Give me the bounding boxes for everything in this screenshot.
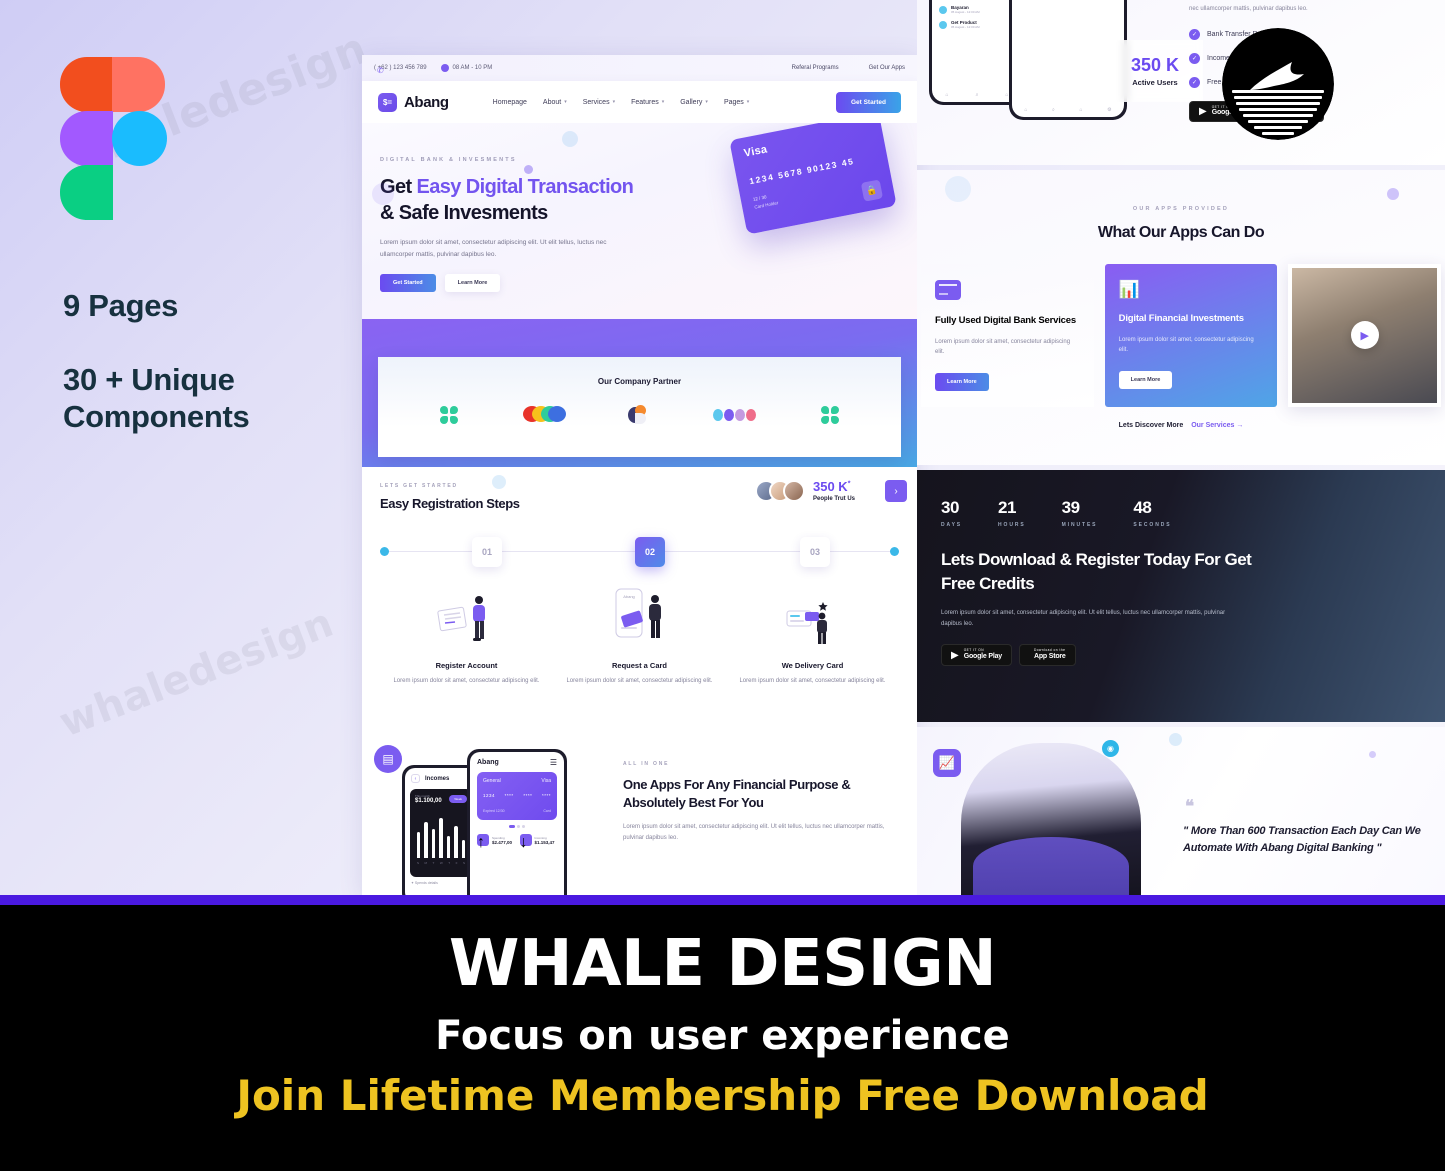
promo-components-count: 30 + Unique Components <box>63 362 313 435</box>
quote-icon: ❝ <box>1185 797 1194 817</box>
phone-brand: Abang <box>477 759 499 766</box>
countdown-seconds: 48SECONDS <box>1133 498 1171 528</box>
active-users-label: Active Users <box>1132 78 1177 87</box>
countdown-timer: 30DAYS 21HOURS 39MINUTES 48SECONDS <box>941 498 1445 528</box>
allinone-kicker: ALL IN ONE <box>623 761 901 767</box>
site-topbar: ✆ ( +62 ) 123 456 789 08 AM - 10 PM Refe… <box>362 55 917 81</box>
bar-chart-icon: 📊 <box>1119 280 1264 300</box>
app-store-badge[interactable]: Download on theApp Store <box>1019 644 1076 665</box>
trust-number: 350 K* <box>813 479 855 494</box>
step-desc: Lorem ipsum dolor sit amet, consectetur … <box>392 676 541 686</box>
step-card-list: Register Account Lorem ipsum dolor sit a… <box>380 585 899 686</box>
register-account-illustration <box>392 585 541 647</box>
decor-blob <box>1387 188 1399 200</box>
partner-logo-list <box>378 406 901 424</box>
profile-icon[interactable]: ⌂ <box>1005 92 1008 98</box>
app-phone-mockups: ▤ ‹ Incomes This month $1.100,00 Week <box>362 735 617 895</box>
topbar-phone[interactable]: ✆ ( +62 ) 123 456 789 <box>374 65 427 71</box>
partner-title: Our Company Partner <box>378 377 901 386</box>
svg-text:Abang: Abang <box>623 594 635 599</box>
chart-badge-icon: 📈 <box>933 749 961 777</box>
hero-title: Get Easy Digital Transaction & Safe Inve… <box>380 175 640 226</box>
our-services-link[interactable]: Our Services → <box>1191 422 1243 429</box>
partner-card: Our Company Partner <box>378 357 901 457</box>
arrow-up-icon: ↑ <box>477 834 489 846</box>
bottom-banner: WHALE DESIGN Focus on user experience Jo… <box>0 895 1445 1171</box>
promo-video-thumbnail[interactable]: ▶ <box>1288 264 1441 407</box>
promo-pages-count: 9 Pages <box>63 288 178 325</box>
decor-blob <box>1369 751 1376 758</box>
card-title: Digital Financial Investments <box>1119 312 1264 326</box>
avatar-group <box>755 480 805 502</box>
allinone-title: One Apps For Any Financial Purpose & Abs… <box>623 776 901 811</box>
main-website-mockup: ✆ ( +62 ) 123 456 789 08 AM - 10 PM Refe… <box>362 55 917 895</box>
link-referal-programs[interactable]: Referal Programs <box>792 65 839 71</box>
decor-blob <box>562 131 578 147</box>
download-paragraph: Lorem ipsum dolor sit amet, consectetur … <box>941 608 1241 630</box>
step-card: Register Account Lorem ipsum dolor sit a… <box>380 585 553 686</box>
learn-more-button[interactable]: Learn More <box>1119 371 1173 389</box>
active-users-number: 350 K <box>1131 55 1179 76</box>
chevron-down-icon: ▾ <box>747 99 750 105</box>
phone-mockup-wallet: Abang ☰ GeneralVisa 1234************ Exp… <box>467 749 567 895</box>
step-card: We Delivery Card Lorem ipsum dolor sit a… <box>726 585 899 686</box>
whale-design-logo-icon <box>1222 28 1334 140</box>
link-get-our-apps[interactable]: Get Our Apps <box>869 65 905 71</box>
step-desc: Lorem ipsum dolor sit amet, consectetur … <box>738 676 887 686</box>
decor-blob <box>524 165 533 174</box>
nav-item-features[interactable]: Features▾ <box>631 99 664 106</box>
step-title: Request a Card <box>565 661 714 670</box>
phone-incomes-title: Incomes <box>425 776 449 782</box>
countdown-hours: 21HOURS <box>998 498 1026 528</box>
apps-kicker: OUR APPS PROVIDED <box>917 206 1445 212</box>
download-title: Lets Download & Register Today For Get F… <box>941 548 1261 596</box>
figma-logo-icon <box>60 57 165 220</box>
apps-capability-mockup: OUR APPS PROVIDED What Our Apps Can Do F… <box>917 170 1445 465</box>
timeline-dot-start <box>380 547 389 556</box>
all-in-one-copy: ALL IN ONE One Apps For Any Financial Pu… <box>617 735 917 895</box>
search-icon[interactable]: ⌕ <box>976 92 979 98</box>
step-number-2[interactable]: 02 <box>635 537 665 567</box>
step-title: We Delivery Card <box>738 661 887 670</box>
income-bar-chart <box>415 812 467 858</box>
visa-card-graphic: Visa 1234 5678 90123 45 12 / 30 Card Hol… <box>729 123 897 235</box>
check-icon: ✓ <box>1189 53 1200 64</box>
google-play-badge[interactable]: ▶ GET IT ONGoogle Play <box>941 644 1012 665</box>
nav-item-homepage[interactable]: Homepage <box>493 99 527 106</box>
stats-paragraph: nec ullamcorper mattis, pulvinar dapibus… <box>1189 4 1439 15</box>
nav-item-pages[interactable]: Pages▾ <box>724 99 749 106</box>
banner-accent-bar <box>0 895 1445 905</box>
all-in-one-section: ▤ ‹ Incomes This month $1.100,00 Week <box>362 735 917 895</box>
request-card-illustration: Abang <box>565 585 714 647</box>
main-menu: Homepage About▾ Services▾ Features▾ Gall… <box>493 99 750 106</box>
discover-more-text: Lets Discover More <box>1119 422 1184 429</box>
apps-card-bank-services: Fully Used Digital Bank Services Lorem i… <box>921 264 1094 407</box>
credit-card-icon <box>935 280 961 300</box>
site-navbar: $= Abang Homepage About▾ Services▾ Featu… <box>362 81 917 123</box>
partner-logo-clover-icon <box>440 406 458 424</box>
phone-icon: ✆ <box>374 64 382 72</box>
hero-learn-more-button[interactable]: Learn More <box>445 274 501 292</box>
delivery-card-illustration <box>738 585 887 647</box>
step-number-3[interactable]: 03 <box>800 537 830 567</box>
decor-blob <box>372 183 394 205</box>
search-icon[interactable]: ⌕ <box>1052 107 1055 113</box>
settings-icon[interactable]: ⚙ <box>1107 107 1111 113</box>
clock-icon <box>441 64 449 72</box>
registration-steps-section: LETS GET STARTED Easy Registration Steps… <box>362 467 917 735</box>
bell-icon[interactable]: ⌂ <box>1079 107 1082 113</box>
brand-mark-icon: $= <box>378 93 397 112</box>
check-icon: ✓ <box>1189 77 1200 88</box>
play-icon[interactable]: ▶ <box>1351 321 1379 349</box>
partner-logo-pie-icon <box>628 406 648 424</box>
lock-icon: 🔒 <box>861 179 883 201</box>
card-desc: Lorem ipsum dolor sit amet, consectetur … <box>935 337 1080 358</box>
card-desc: Lorem ipsum dolor sit amet, consectetur … <box>1119 335 1264 356</box>
timeline-dot-end <box>890 547 899 556</box>
home-icon[interactable]: ⌂ <box>946 92 949 98</box>
google-play-icon: ▶ <box>951 650 959 661</box>
decor-blob <box>1169 733 1182 746</box>
trust-label: People Trut Us <box>813 496 855 502</box>
testimonial-photo <box>961 743 1141 895</box>
arrow-down-icon: ↓ <box>520 834 532 846</box>
checklist-item: ✓Bank Transfer Real Time <box>1189 29 1439 40</box>
card-title: Fully Used Digital Bank Services <box>935 314 1080 328</box>
phone-tile-spending: ↑ Spending$2.477,00 <box>477 834 515 846</box>
card-badge-icon: ▤ <box>374 745 402 773</box>
download-register-mockup: 30DAYS 21HOURS 39MINUTES 48SECONDS Lets … <box>917 470 1445 722</box>
partner-logo-clover-icon <box>821 406 839 424</box>
next-arrow-button[interactable]: › <box>885 480 907 502</box>
get-started-button[interactable]: Get Started <box>836 92 901 113</box>
partner-logo-logo-icon <box>713 406 756 424</box>
visa-card-brand: Visa <box>743 123 871 159</box>
chevron-down-icon: ▾ <box>705 99 708 105</box>
nav-item-services[interactable]: Services▾ <box>583 99 615 106</box>
learn-more-button[interactable]: Learn More <box>935 373 989 391</box>
allinone-paragraph: Lorem ipsum dolor sit amet, consectetur … <box>623 822 901 844</box>
chevron-down-icon: ▾ <box>662 99 665 105</box>
step-number-1[interactable]: 01 <box>472 537 502 567</box>
nav-item-gallery[interactable]: Gallery▾ <box>680 99 708 106</box>
hero-get-started-button[interactable]: Get Started <box>380 274 436 292</box>
step-desc: Lorem ipsum dolor sit amet, consectetur … <box>565 676 714 686</box>
topbar-hours: 08 AM - 10 PM <box>441 64 493 72</box>
brand-logo[interactable]: $= Abang <box>378 93 449 112</box>
back-icon[interactable]: ‹ <box>411 774 420 783</box>
banner-cta: Join Lifetime Membership Free Download <box>0 1071 1445 1120</box>
decor-blob <box>492 475 506 489</box>
banner-subtitle: Focus on user experience <box>0 1013 1445 1059</box>
step-title: Register Account <box>392 661 541 670</box>
hero-paragraph: Lorem ipsum dolor sit amet, consectetur … <box>380 237 612 260</box>
whale-stripes <box>1228 90 1328 138</box>
nav-item-about[interactable]: About▾ <box>543 99 567 106</box>
google-play-icon: ▶ <box>1199 106 1207 117</box>
step-card: Abang Request a Card Lorem ipsum dolor s… <box>553 585 726 686</box>
home-icon[interactable]: ⌂ <box>1024 107 1027 113</box>
topbar-hours-text: 08 AM - 10 PM <box>453 65 493 71</box>
poster-canvas: whaledesign whaledesign whaledesign 9 Pa… <box>0 0 1445 1171</box>
chevron-down-icon: ▾ <box>564 99 567 105</box>
menu-icon[interactable]: ☰ <box>550 758 557 767</box>
partner-logo-petals-icon <box>523 406 563 424</box>
chevron-down-icon: ▾ <box>613 99 616 105</box>
steps-timeline: 01 02 03 <box>380 541 899 563</box>
apps-title: What Our Apps Can Do <box>917 224 1445 242</box>
shield-badge-icon: ◉ <box>1102 740 1119 757</box>
stats-mockup: SMTWTFS ✦ Spends details This Month Mesa… <box>917 0 1445 165</box>
check-icon: ✓ <box>1189 29 1200 40</box>
testimonial-quote: " More Than 600 Transaction Each Day Can… <box>1183 823 1428 856</box>
apps-card-financial-investments: 📊 Digital Financial Investments Lorem ip… <box>1105 264 1278 407</box>
countdown-minutes: 39MINUTES <box>1062 498 1098 528</box>
countdown-days: 30DAYS <box>941 498 962 528</box>
phone-tile-incoming: ↓ Incoming$1.153,47 <box>520 834 558 846</box>
banner-title: WHALE DESIGN <box>0 927 1445 1001</box>
apps-card-list: Fully Used Digital Bank Services Lorem i… <box>917 264 1445 407</box>
store-badges: ▶ GET IT ONGoogle Play Download on theAp… <box>941 644 1445 665</box>
apps-footer: Lets Discover More Our Services → <box>917 422 1445 429</box>
partner-section: Our Company Partner <box>362 319 917 467</box>
trust-block: 350 K* People Trut Us <box>755 479 855 502</box>
phone-credit-card: GeneralVisa 1234************ Expired 12/… <box>477 772 557 820</box>
hero-section: DIGITAL BANK & INVESMENTS Get Easy Digit… <box>362 123 917 319</box>
brand-name: Abang <box>404 94 449 111</box>
promo-column: 9 Pages 30 + Unique Components <box>0 0 362 895</box>
hero-actions: Get Started Learn More <box>380 274 917 292</box>
decor-blob <box>945 176 971 202</box>
testimonial-mockup: 📈 ◉ ❝ " More Than 600 Transaction Each D… <box>917 727 1445 895</box>
